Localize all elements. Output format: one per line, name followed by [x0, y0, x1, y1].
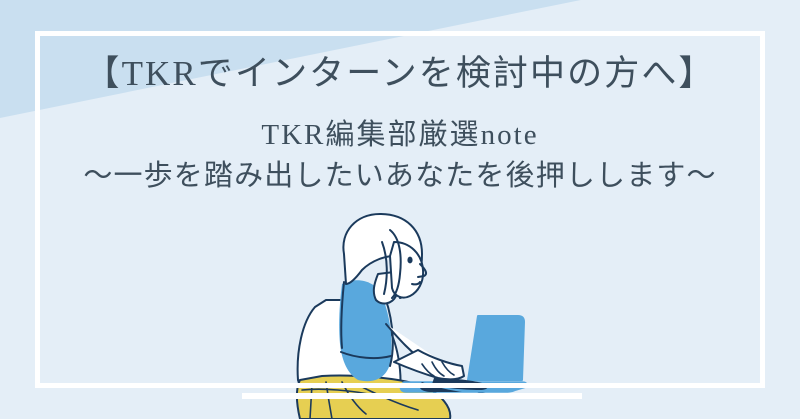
note-banner: 【TKRでインターンを検討中の方へ】 TKR編集部厳選note 〜一歩を踏み出し…	[0, 0, 800, 419]
desk-surface-line	[40, 383, 760, 388]
banner-subline-secondary: 〜一歩を踏み出したいあなたを後押しします〜	[0, 158, 800, 196]
banner-subline-primary: TKR編集部厳選note	[0, 117, 800, 155]
banner-headline: 【TKRでインターンを検討中の方へ】	[0, 52, 800, 97]
banner-text-block: 【TKRでインターンを検討中の方へ】 TKR編集部厳選note 〜一歩を踏み出し…	[0, 52, 800, 196]
